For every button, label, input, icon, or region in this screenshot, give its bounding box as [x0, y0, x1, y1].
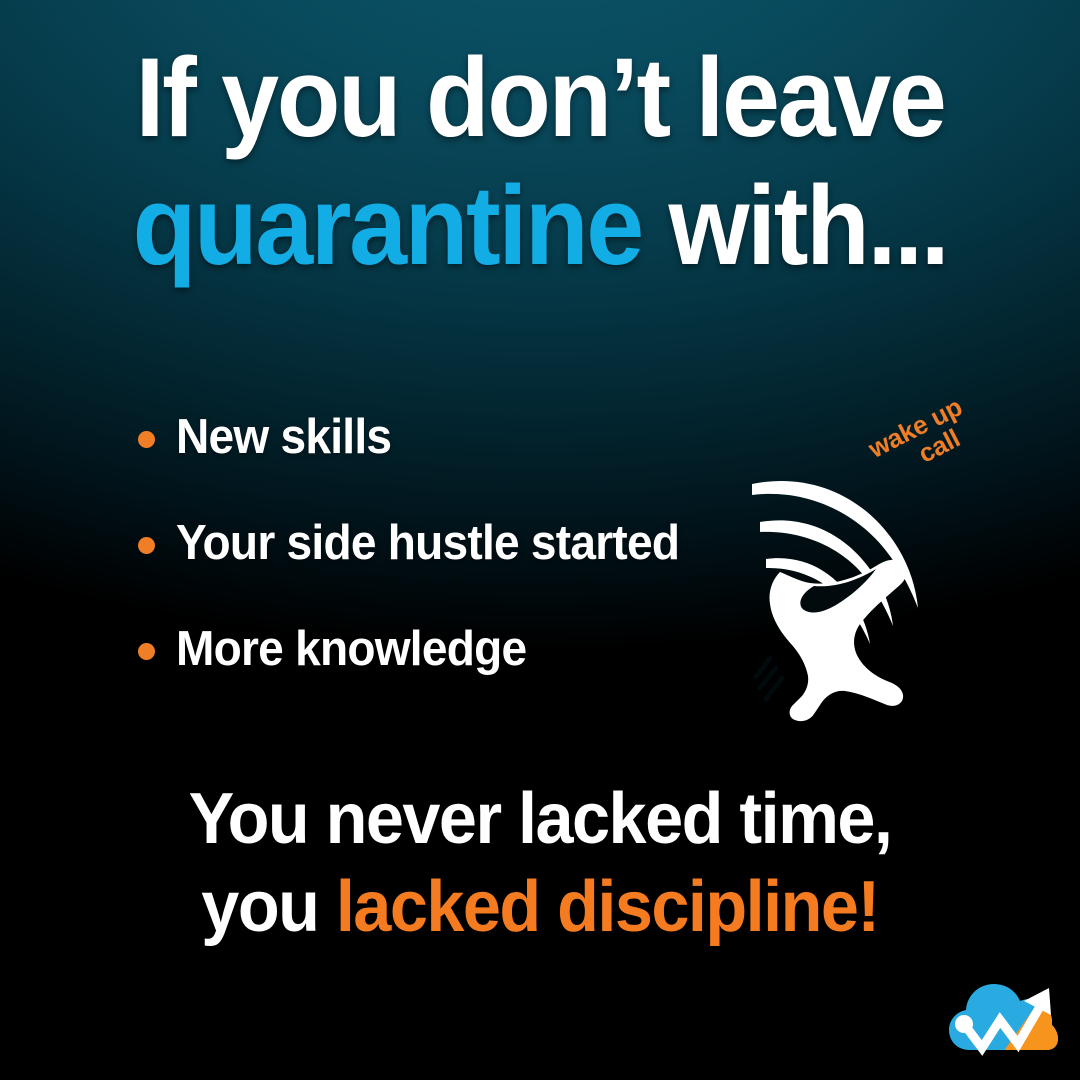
bullet-dot-icon	[138, 643, 155, 660]
statement-line-1: You never lacked time,	[27, 776, 1053, 864]
list-item-label: Your side hustle started	[176, 519, 679, 568]
list-item-label: New skills	[176, 413, 391, 462]
closing-statement: You never lacked time, you lacked discip…	[27, 776, 1053, 952]
bullet-dot-icon	[138, 431, 155, 448]
page-title: If you don’t leave quarantine with...	[38, 34, 1042, 289]
list-item-label: More knowledge	[176, 625, 526, 674]
headline-line-2-rest: with...	[642, 163, 947, 288]
poster-canvas: If you don’t leave quarantine with... Ne…	[0, 0, 1080, 1080]
statement-line-2: you lacked discipline!	[27, 864, 1053, 952]
list-item: More knowledge	[138, 615, 778, 683]
headline-line-1: If you don’t leave	[38, 34, 1042, 162]
statement-accent: lacked discipline!	[336, 867, 879, 947]
statement-line-2-plain: you	[201, 867, 336, 947]
list-item: New skills	[138, 403, 778, 471]
benefits-list: New skills Your side hustle started More…	[138, 403, 778, 721]
list-item: Your side hustle started	[138, 509, 778, 577]
headline-line-2: quarantine with...	[38, 162, 1042, 290]
lightbulb-megaphone-icon	[748, 462, 958, 724]
brand-logo	[948, 972, 1060, 1062]
arrow-start-dot	[955, 1015, 973, 1033]
headline-accent-word: quarantine	[133, 163, 642, 288]
bullet-dot-icon	[138, 537, 155, 554]
